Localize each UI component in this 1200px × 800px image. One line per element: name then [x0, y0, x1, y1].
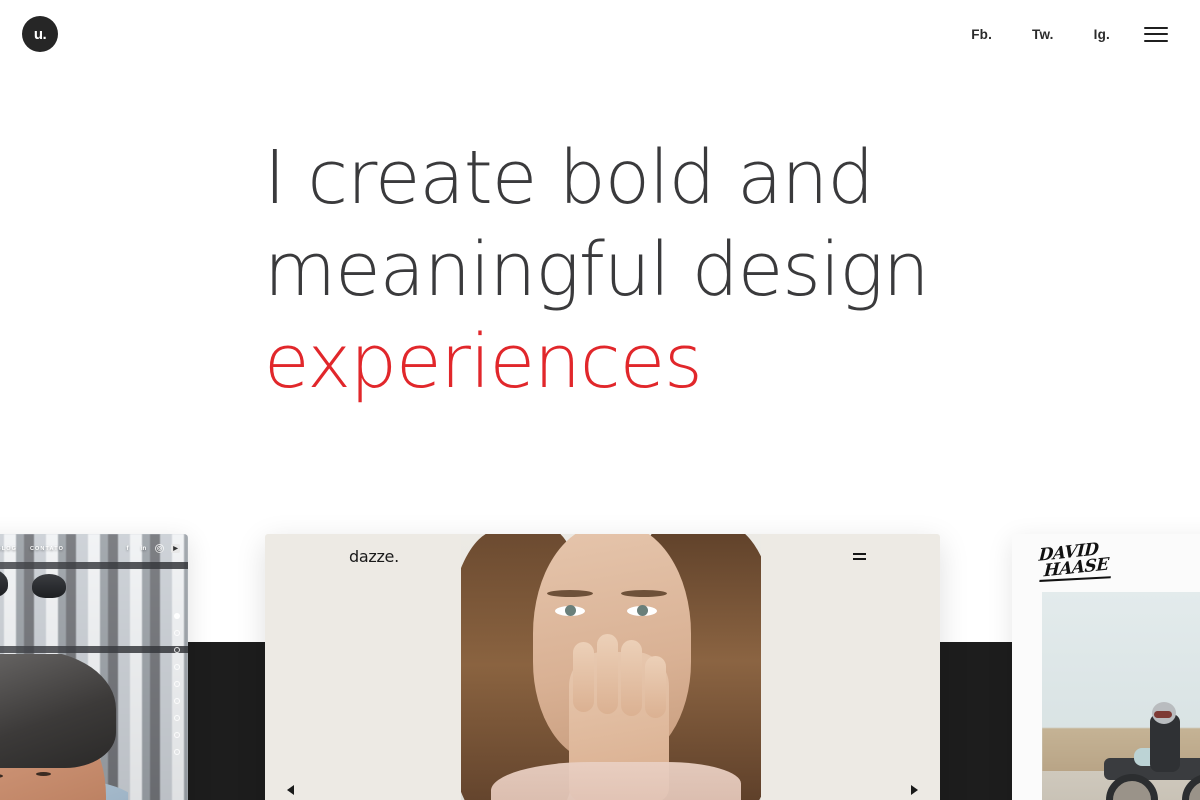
slide-dot[interactable] — [174, 732, 180, 738]
left-card-navigation: SOLUÇÕES BLOG CONTATO f in ◎ ▶ — [0, 544, 188, 553]
slide-dot[interactable] — [174, 698, 180, 704]
linkedin-icon[interactable]: in — [139, 544, 148, 553]
page-root: u. Fb. Tw. Ig. I create bold and meaning… — [0, 0, 1200, 800]
dazze-burger-bar-2 — [853, 558, 866, 560]
person-hair — [0, 654, 116, 768]
left-card-social-icons: f in ◎ ▶ — [123, 544, 180, 553]
david-haase-brand-logo[interactable]: DAVID HAASE — [1037, 540, 1113, 584]
carousel-next-arrow[interactable] — [911, 785, 918, 795]
center-dark-panel — [940, 642, 1012, 800]
hero-heading: I create bold and meaningful design expe… — [264, 132, 1164, 408]
slide-dot[interactable] — [174, 681, 180, 687]
portfolio-card-right[interactable]: DAVID HAASE — [1012, 534, 1200, 800]
hero-line-1: I create bold and — [264, 132, 1164, 224]
youtube-icon[interactable]: ▶ — [171, 544, 180, 553]
brand-logo[interactable]: u. — [22, 16, 58, 52]
portfolio-showcase: SOLUÇÕES BLOG CONTATO f in ◎ ▶ — [0, 500, 1200, 800]
woman-brow-left — [547, 590, 593, 597]
woman-finger-3 — [621, 640, 642, 716]
nav-link-facebook[interactable]: Fb. — [951, 27, 1012, 42]
office-lamp-2 — [32, 574, 66, 598]
center-card-header: dazze. — [265, 534, 940, 578]
slide-dot[interactable] — [174, 715, 180, 721]
woman-iris-left — [565, 605, 576, 616]
slide-dot[interactable] — [174, 647, 180, 653]
carousel-prev-arrow[interactable] — [287, 785, 294, 795]
woman-iris-right — [637, 605, 648, 616]
burger-bar-2 — [1144, 33, 1168, 35]
hero-line-2: meaningful design — [264, 224, 1164, 316]
rider-visor — [1154, 711, 1172, 718]
hamburger-menu-icon[interactable] — [1144, 27, 1168, 42]
woman-brow-right — [621, 590, 667, 597]
site-header: u. Fb. Tw. Ig. — [0, 0, 1200, 68]
mini-nav-contato[interactable]: CONTATO — [30, 546, 64, 552]
hamburger-menu-icon[interactable] — [853, 553, 866, 560]
slide-dot[interactable] — [174, 664, 180, 670]
facebook-icon[interactable]: f — [123, 544, 132, 553]
office-portrait-photo — [0, 654, 128, 800]
dazze-brand-logo[interactable]: dazze. — [349, 547, 399, 566]
motorcycle-beach-photo — [1042, 592, 1200, 800]
woman-finger-1 — [573, 642, 594, 712]
woman-finger-2 — [597, 634, 618, 714]
burger-bar-3 — [1144, 40, 1168, 42]
office-beam-1 — [0, 562, 188, 569]
office-beam-2 — [0, 646, 188, 653]
left-card-slide-dots[interactable] — [174, 613, 180, 755]
woman-sleeve — [491, 762, 741, 800]
hero-line-3-accent: experiences — [264, 316, 1164, 408]
brand-logo-text: u. — [34, 27, 46, 42]
nav-link-twitter[interactable]: Tw. — [1012, 27, 1074, 42]
slide-dot[interactable] — [174, 613, 180, 619]
nav-link-instagram[interactable]: Ig. — [1074, 27, 1130, 42]
slide-dot[interactable] — [174, 630, 180, 636]
portfolio-card-left[interactable]: SOLUÇÕES BLOG CONTATO f in ◎ ▶ — [0, 534, 188, 800]
slide-dot[interactable] — [174, 749, 180, 755]
top-navigation: Fb. Tw. Ig. — [951, 27, 1168, 42]
dazze-burger-bar-1 — [853, 553, 866, 555]
instagram-icon[interactable]: ◎ — [155, 544, 164, 553]
burger-bar-1 — [1144, 27, 1168, 29]
person-eye-right — [36, 772, 51, 776]
woman-finger-4 — [645, 656, 666, 718]
mini-nav-blog[interactable]: BLOG — [0, 546, 17, 552]
portfolio-card-center[interactable]: dazze. — [265, 534, 940, 800]
